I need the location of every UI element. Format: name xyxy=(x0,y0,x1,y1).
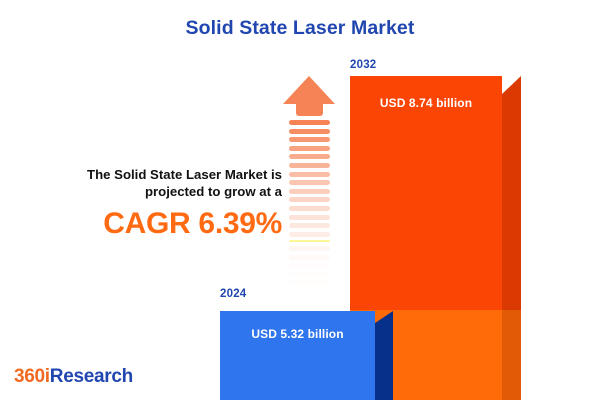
bar-2024-value-label: USD 5.32 billion xyxy=(220,327,375,341)
brand-logo[interactable]: 360iResearch xyxy=(14,366,133,388)
logo-word-text: Research xyxy=(50,366,133,387)
bar-2024-side-face xyxy=(375,311,393,400)
bar-2024-category-label: 2024 xyxy=(220,288,246,300)
bar-chart-area: 2032 USD 8.74 billion 2024 USD 5.32 bill… xyxy=(0,0,600,400)
bar-2032-category-label: 2032 xyxy=(350,59,376,71)
bar-2032-value-label: USD 8.74 billion xyxy=(350,96,502,110)
bar-2024 xyxy=(220,311,375,400)
bar-2032-side-face-lower xyxy=(502,310,521,400)
logo-mark-text: 360i xyxy=(14,366,50,387)
infographic-canvas: Solid State Laser Market The Solid State… xyxy=(0,0,600,400)
